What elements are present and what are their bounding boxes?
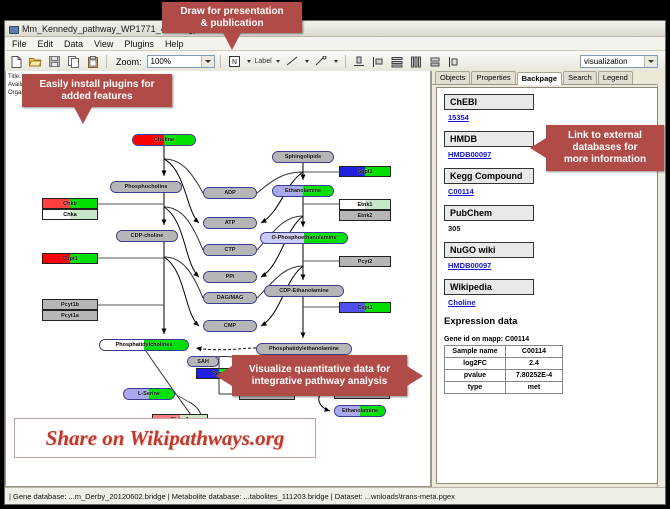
db-link-chebi[interactable]: 15354: [448, 113, 657, 122]
table-row: pvalue7.80252E-4: [445, 370, 563, 382]
tab-objects[interactable]: Objects: [435, 71, 470, 84]
datanode-dropdown-icon[interactable]: [245, 55, 253, 69]
node-label: Pcyt1b: [61, 302, 79, 308]
callout-databases: Link to externaldatabases formore inform…: [546, 125, 664, 171]
tool-bar: Zoom: 100% N Label: [5, 51, 665, 73]
gene-node-etnk1[interactable]: Etnk1: [339, 199, 391, 210]
gene-node-etnk2[interactable]: Etnk2: [339, 210, 391, 221]
node-label: Phosphatidylethanolamine: [269, 346, 339, 352]
gene-node-chkb[interactable]: Chkb: [42, 198, 98, 209]
share-banner-text: Share on Wikipathways.org: [46, 426, 285, 451]
menu-edit[interactable]: Edit: [36, 39, 56, 49]
metabolite-node-cdp-ethanolamine[interactable]: CDP-Ethanolamine: [264, 285, 344, 297]
datanode-icon[interactable]: N: [226, 53, 243, 70]
visualization-chevron-down-icon[interactable]: [644, 56, 657, 67]
db-header-wikipedia: Wikipedia: [444, 279, 534, 295]
gene-node-chka[interactable]: Chka: [42, 209, 98, 220]
metabolite-node-phosphatidylcholines[interactable]: Phosphatidylcholines: [99, 339, 189, 351]
expr-row-value: met: [506, 382, 563, 394]
metabolite-node-ethanolamine-top[interactable]: Ethanolamine: [272, 185, 334, 197]
metabolite-node-atp[interactable]: ATP: [203, 217, 257, 229]
node-label: Etnk1: [358, 202, 373, 208]
expression-data-title: Expression data: [444, 316, 657, 327]
table-row: log2FC2.4: [445, 358, 563, 370]
callout-tail-plugins: [74, 107, 92, 124]
zoom-label: Zoom:: [116, 57, 142, 67]
metabolite-node-o-phosphoethanolamine[interactable]: O-Phosphoethanolamine: [260, 232, 348, 244]
callout-tail-draw: [223, 33, 241, 50]
table-row: Sample nameC00114: [445, 346, 563, 358]
menu-view[interactable]: View: [92, 39, 115, 49]
node-label: L-Serine: [138, 391, 160, 397]
node-label: PPi: [226, 274, 235, 280]
interaction-dropdown-icon[interactable]: [332, 55, 340, 69]
gene-node-pcyt1b[interactable]: Pcyt1b: [42, 299, 98, 310]
metabolite-node-phosphocholine[interactable]: Phosphocholine: [110, 181, 182, 193]
label-dropdown-icon[interactable]: [274, 55, 282, 69]
expr-row-key: type: [445, 382, 506, 394]
align-middle-icon[interactable]: [446, 53, 463, 70]
metabolite-node-ctp[interactable]: CTP: [203, 244, 257, 256]
node-label: Chpt1: [62, 256, 78, 262]
node-label: CMP: [224, 323, 236, 329]
node-label: Sphingolipids: [285, 154, 321, 160]
node-label: Chka: [63, 212, 76, 218]
expr-row-value: 2.4: [506, 358, 563, 370]
distribute-vertical-icon[interactable]: [389, 53, 406, 70]
callout-plugins: Easily install plugins foradded features: [22, 74, 172, 107]
gene-node-pcyt1a[interactable]: Pcyt1a: [42, 310, 98, 321]
title-bar: Mm_Kennedy_pathway_WP1771_45176.gpml: [5, 21, 665, 37]
expr-row-key: pvalue: [445, 370, 506, 382]
node-label: DAG/MAG: [217, 295, 244, 301]
callout-tail-visualize-right: [407, 366, 423, 386]
visualization-value: visualization: [584, 57, 628, 66]
gene-node-chpt1[interactable]: Chpt1: [42, 253, 98, 264]
copy-icon[interactable]: [65, 53, 82, 70]
line-tool-icon[interactable]: [284, 53, 301, 70]
node-label: Pcyt2: [358, 259, 373, 265]
table-row: typemet: [445, 382, 563, 394]
toolbar-separator-3: [345, 55, 346, 68]
metabolite-node-ethanolamine-right[interactable]: Ethanolamine: [334, 405, 386, 417]
callout-tail-visualize: [216, 366, 232, 386]
zoom-combo[interactable]: 100%: [147, 55, 215, 68]
node-label: CTP: [225, 247, 236, 253]
callout-tail-databases: [530, 138, 546, 158]
tab-search[interactable]: Search: [563, 71, 597, 84]
node-label: Choline: [154, 137, 174, 143]
db-header-kegg-compound: Kegg Compound: [444, 168, 534, 184]
tab-backpage[interactable]: Backpage: [517, 72, 562, 85]
metabolite-node-sphingolipids[interactable]: Sphingolipids: [272, 151, 334, 163]
visualization-combo[interactable]: visualization: [580, 55, 658, 68]
expr-row-key: Sample name: [445, 346, 506, 358]
tab-properties[interactable]: Properties: [471, 71, 515, 84]
db-link-kegg-compound[interactable]: C00114: [448, 187, 657, 196]
line-dropdown-icon[interactable]: [303, 55, 311, 69]
node-label: Sgpl1: [358, 169, 373, 175]
callout-text: Draw for presentation& publication: [180, 6, 283, 30]
gene-node-cept1[interactable]: Cept1: [339, 302, 391, 313]
metabolite-node-adp[interactable]: ADP: [203, 187, 257, 199]
node-label: ADP: [224, 190, 236, 196]
align-bottom-icon[interactable]: [351, 53, 368, 70]
db-header-chebi: ChEBI: [444, 94, 534, 110]
expression-data-table: Sample nameC00114log2FC2.4pvalue7.80252E…: [444, 345, 563, 394]
align-left-icon[interactable]: [370, 53, 387, 70]
status-bar: | Gene database: ...m_Derby_20120602.bri…: [5, 487, 665, 504]
metabolite-node-phosphatidylethanolamine[interactable]: Phosphatidylethanolamine: [256, 343, 352, 355]
share-banner: Share on Wikipathways.org: [14, 418, 316, 458]
save-icon[interactable]: [46, 53, 63, 70]
node-label: O-Phosphoethanolamine: [271, 235, 336, 241]
metabolite-node-l-serine-left[interactable]: L-Serine: [123, 388, 175, 400]
zoom-value: 100%: [151, 57, 171, 66]
menu-file[interactable]: File: [10, 39, 29, 49]
open-folder-icon[interactable]: [27, 53, 44, 70]
new-file-icon[interactable]: [8, 53, 25, 70]
metabolite-node-cdp-choline[interactable]: CDP-choline: [116, 230, 178, 242]
node-label: Phosphatidylcholines: [116, 342, 173, 348]
chevron-down-icon[interactable]: [201, 56, 214, 67]
menu-plugins[interactable]: Plugins: [122, 39, 156, 49]
node-label: Chkb: [63, 201, 77, 207]
callout-text: Link to externaldatabases formore inform…: [564, 130, 646, 165]
distribute-horizontal-icon[interactable]: [408, 53, 425, 70]
node-label: Pcyt1a: [61, 313, 79, 319]
node-label: Etnk2: [358, 213, 373, 219]
expr-row-value: 7.80252E-4: [506, 370, 563, 382]
node-label: Ethanolamine: [285, 188, 321, 194]
metabolite-node-sah[interactable]: SAH: [187, 356, 219, 367]
node-label: CDP-Ethanolamine: [279, 288, 329, 294]
metabolite-node-dag-mag[interactable]: DAG/MAG: [203, 292, 257, 304]
toolbar-separator-2: [220, 55, 221, 68]
callout-draw: Draw for presentation& publication: [162, 2, 302, 33]
paste-icon[interactable]: [84, 53, 101, 70]
menu-data[interactable]: Data: [62, 39, 85, 49]
interaction-tool-icon[interactable]: [313, 53, 330, 70]
side-panel-tabs: Objects Properties Backpage Search Legen…: [432, 71, 665, 85]
gene-id-line: Gene id on mapp: C00114: [444, 336, 657, 343]
db-header-nugo-wiki: NuGO wiki: [444, 242, 534, 258]
db-header-pubchem: PubChem: [444, 205, 534, 221]
node-label: ATP: [225, 220, 236, 226]
node-label: Cept1: [357, 305, 372, 311]
metabolite-node-ppi[interactable]: PPi: [203, 271, 257, 283]
node-label: SAH: [197, 359, 209, 365]
node-label: Ethanolamine: [342, 408, 378, 414]
svg-text:N: N: [231, 58, 236, 66]
db-header-hmdb: HMDB: [444, 131, 534, 147]
tab-legend[interactable]: Legend: [598, 71, 633, 84]
menu-bar: File Edit Data View Plugins Help: [5, 37, 665, 51]
db-value-pubchem: 305: [448, 224, 657, 233]
callout-visualize: Visualize quantitative data forintegrati…: [232, 355, 407, 396]
callout-text: Easily install plugins foradded features: [39, 79, 154, 103]
metabolite-node-cmp[interactable]: CMP: [203, 320, 257, 332]
gene-node-sgpl1[interactable]: Sgpl1: [339, 166, 391, 177]
status-text: | Gene database: ...m_Derby_20120602.bri…: [9, 492, 455, 501]
node-label: CDP-choline: [131, 233, 164, 239]
label-tool-label: Label: [255, 58, 272, 65]
db-link-nugo-wiki[interactable]: HMDB00097: [448, 261, 657, 270]
callout-text: Visualize quantitative data forintegrati…: [249, 364, 390, 388]
metabolite-node-choline-top[interactable]: Choline: [132, 134, 196, 146]
node-label: Phosphocholine: [125, 184, 168, 190]
pathvisio-icon: [8, 24, 18, 34]
stack-icon[interactable]: [427, 53, 444, 70]
toolbar-separator-1: [106, 55, 107, 68]
gene-node-pcyt2[interactable]: Pcyt2: [339, 256, 391, 267]
expr-row-value: C00114: [506, 346, 563, 358]
db-link-wikipedia[interactable]: Choline: [448, 298, 657, 307]
expr-row-key: log2FC: [445, 358, 506, 370]
menu-help[interactable]: Help: [163, 39, 186, 49]
